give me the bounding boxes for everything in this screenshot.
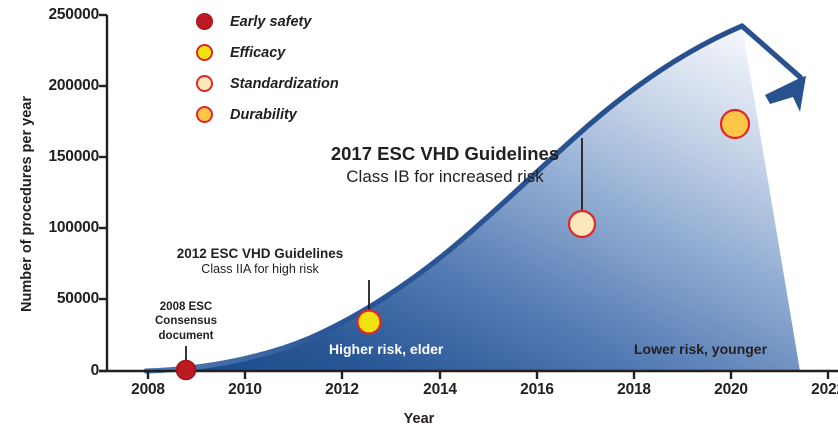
y-tick-100000: 100000 — [48, 219, 99, 237]
legend-item-efficacy[interactable]: Efficacy — [196, 37, 466, 68]
annotation-2017-line2: Class IB for increased risk — [304, 167, 586, 187]
x-tick-2012: 2012 — [325, 381, 359, 399]
y-tick-50000: 50000 — [57, 290, 99, 308]
annotation-2008-esc-consensus: 2008 ESC Consensus document — [140, 300, 232, 343]
annotation-2008-line3: document — [140, 329, 232, 343]
annotation-2017-esc-guidelines: 2017 ESC VHD Guidelines Class IB for inc… — [304, 143, 586, 187]
y-tick-150000: 150000 — [48, 148, 99, 166]
annotation-2008-line1: 2008 ESC — [140, 300, 232, 314]
y-axis-title: Number of procedures per year — [19, 74, 35, 334]
marker-early-safety[interactable] — [177, 361, 196, 380]
x-tick-2014: 2014 — [423, 381, 457, 399]
x-tick-2018: 2018 — [617, 381, 651, 399]
legend-label: Standardization — [230, 76, 339, 92]
legend-item-early-safety[interactable]: Early safety — [196, 6, 466, 37]
x-tick-2008: 2008 — [131, 381, 165, 399]
band-label-lower-risk: Lower risk, younger — [634, 341, 767, 357]
x-tick-2020: 2020 — [714, 381, 748, 399]
marker-standardization[interactable] — [569, 211, 595, 237]
x-tick-2022: 2022 — [811, 381, 838, 399]
annotation-2008-line2: Consensus — [140, 314, 232, 328]
legend-item-durability[interactable]: Durability — [196, 99, 466, 130]
y-axis-tick-labels: 250000 200000 150000 100000 50000 0 — [0, 0, 99, 440]
band-label-higher-risk: Higher risk, elder — [329, 341, 443, 357]
filled-circle-icon — [196, 75, 213, 92]
chart-legend: Early safety Efficacy Standardization Du… — [196, 6, 466, 130]
y-tick-200000: 200000 — [48, 77, 99, 95]
x-tick-2016: 2016 — [520, 381, 554, 399]
y-tick-250000: 250000 — [48, 6, 99, 24]
annotation-2012-line2: Class IIA for high risk — [152, 262, 368, 276]
annotation-2017-line1: 2017 ESC VHD Guidelines — [304, 143, 586, 165]
tavi-procedures-growth-chart: 250000 200000 150000 100000 50000 0 2008… — [0, 0, 838, 440]
legend-label: Early safety — [230, 14, 311, 30]
marker-durability[interactable] — [721, 110, 749, 138]
legend-label: Durability — [230, 107, 297, 123]
legend-label: Efficacy — [230, 45, 285, 61]
annotation-2012-line1: 2012 ESC VHD Guidelines — [152, 246, 368, 261]
filled-circle-icon — [196, 106, 213, 123]
x-axis-ticks — [148, 371, 828, 379]
x-axis-title: Year — [0, 411, 838, 427]
x-tick-2010: 2010 — [228, 381, 262, 399]
marker-efficacy[interactable] — [358, 311, 381, 334]
filled-circle-icon — [196, 13, 213, 30]
y-tick-0: 0 — [91, 362, 99, 380]
arrow-shaft — [742, 26, 800, 77]
filled-circle-icon — [196, 44, 213, 61]
annotation-2012-esc-guidelines: 2012 ESC VHD Guidelines Class IIA for hi… — [152, 246, 368, 276]
curve-arrowhead-icon — [765, 76, 806, 112]
legend-item-standardization[interactable]: Standardization — [196, 68, 466, 99]
